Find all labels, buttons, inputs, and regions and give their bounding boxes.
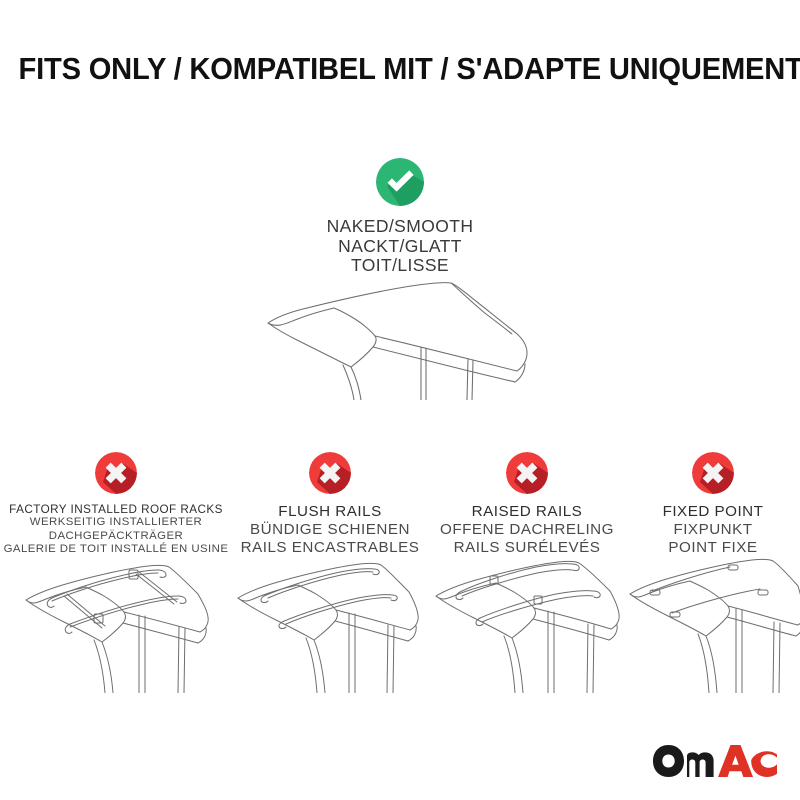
- incompatible-item-fixed-point: FIXED POINT FIXPUNKT POINT FIXE: [626, 452, 800, 557]
- label-line-1: FIXED POINT: [663, 503, 764, 521]
- incompatible-roof-illustrations-row: [0, 548, 800, 693]
- label-line-2: OFFENE DACHRELING: [440, 521, 614, 539]
- car-roof-factory-rack-illustration: [8, 548, 226, 693]
- incompatible-roof-types-row: FACTORY INSTALLED ROOF RACKS WERKSEITIG …: [0, 452, 800, 557]
- approved-roof-type-labels: NAKED/SMOOTH NACKT/GLATT TOIT/LISSE: [327, 217, 474, 276]
- green-check-circle-icon: [376, 158, 424, 206]
- label-line-3: DACHGEPÄCKTRÄGER: [4, 530, 229, 543]
- car-roof-fixed-point-illustration: [618, 548, 800, 693]
- label-line-1: FLUSH RAILS: [241, 503, 420, 521]
- incompatible-item-flush-rails: FLUSH RAILS BÜNDIGE SCHIENEN RAILS ENCAS…: [232, 452, 428, 557]
- approved-label-en: NAKED/SMOOTH: [327, 217, 474, 237]
- label-line-2: WERKSEITIG INSTALLIERTER: [4, 516, 229, 529]
- incompatible-item-raised-rails: RAISED RAILS OFFENE DACHRELING RAILS SUR…: [428, 452, 626, 557]
- page-title-text: FITS ONLY / KOMPATIBEL MIT / S'ADAPTE UN…: [18, 52, 800, 87]
- label-line-1: RAISED RAILS: [440, 503, 614, 521]
- approved-roof-type-group: NAKED/SMOOTH NACKT/GLATT TOIT/LISSE: [0, 158, 800, 276]
- incompatible-item-factory-installed-roof-racks: FACTORY INSTALLED ROOF RACKS WERKSEITIG …: [0, 452, 232, 557]
- car-roof-naked-smooth-illustration: [255, 275, 565, 400]
- car-roof-raised-rails-illustration: [422, 548, 627, 693]
- approved-label-de: NACKT/GLATT: [327, 237, 474, 257]
- red-x-circle-icon: [95, 452, 137, 494]
- label-line-1: FACTORY INSTALLED ROOF RACKS: [4, 503, 229, 516]
- red-x-circle-icon: [506, 452, 548, 494]
- approved-label-fr: TOIT/LISSE: [327, 256, 474, 276]
- fitment-info-graphic: FITS ONLY / KOMPATIBEL MIT / S'ADAPTE UN…: [0, 0, 800, 800]
- label-line-2: BÜNDIGE SCHIENEN: [241, 521, 420, 539]
- page-title: FITS ONLY / KOMPATIBEL MIT / S'ADAPTE UN…: [0, 52, 800, 87]
- omac-brand-logo: [652, 744, 778, 778]
- car-roof-flush-rails-illustration: [224, 548, 424, 693]
- red-x-circle-icon: [309, 452, 351, 494]
- red-x-circle-icon: [692, 452, 734, 494]
- label-line-2: FIXPUNKT: [663, 521, 764, 539]
